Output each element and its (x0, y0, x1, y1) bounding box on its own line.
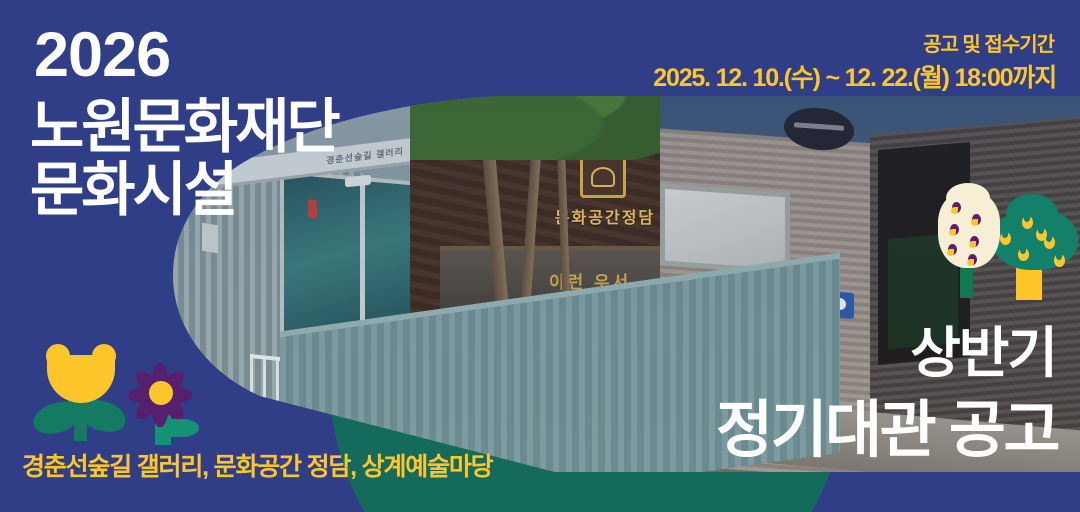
headline-line-1: 상반기 (910, 326, 1056, 381)
tree-fruit-icon (1018, 248, 1029, 261)
tulip-flower-icon (47, 355, 115, 403)
venue-list-text: 경춘선숲길 갤러리, 문화공간 정담, 상계예술마당 (22, 447, 492, 483)
poster-canvas: 경춘선숲길 갤러리 문화공간정담 이런 우서 (0, 0, 1080, 512)
gallery-meter-box (202, 223, 218, 254)
headline-line-2: 정기대관 공고 (716, 400, 1058, 462)
cream-tree-crown-icon (938, 192, 1000, 268)
green-tree-crown-icon (992, 208, 1078, 270)
page-title-year: 2026 (34, 24, 170, 87)
page-title-organization: 노원문화재단 문화시설 (30, 96, 338, 222)
sanggye-window (660, 183, 790, 274)
tree-illustrations (940, 190, 1080, 300)
notice-period-value: 2025. 12. 10.(수) ~ 12. 22.(월) 18:00까지 (653, 58, 1056, 94)
tree-fruit-icon (1000, 232, 1011, 245)
tree-berry-icon (948, 244, 957, 255)
daisy-leaf-icon (165, 419, 199, 437)
tree-fruit-icon (1036, 228, 1047, 241)
notice-period-label: 공고 및 접수기간 (923, 28, 1054, 57)
tree-berry-icon (968, 254, 977, 265)
daisy-illustration (125, 357, 201, 441)
flower-illustrations (30, 345, 195, 445)
tree-berry-icon (970, 236, 979, 247)
tree-fruit-icon (1054, 254, 1065, 267)
tulip-petal-middle-icon (85, 354, 111, 380)
tree-berry-icon (972, 214, 981, 225)
daisy-center-icon (149, 381, 173, 405)
tree-fruit-icon (1022, 216, 1033, 229)
tree-berry-icon (952, 202, 961, 213)
tree-berry-icon (950, 224, 959, 235)
